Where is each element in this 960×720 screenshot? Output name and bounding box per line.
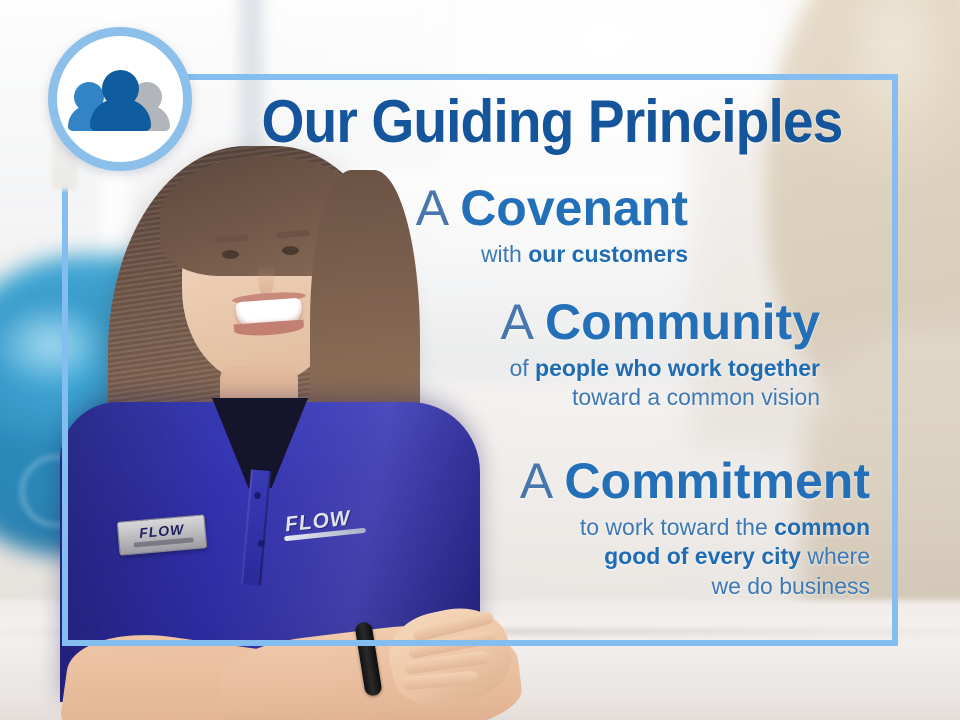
principle-community-title: A Community (300, 296, 820, 348)
shirt-button (258, 540, 265, 547)
principle-commitment-subtitle: to work toward the common good of every … (330, 513, 870, 601)
principle-commitment-sub-bold: common (774, 514, 870, 540)
principle-community-sub-bold: people who work together (535, 355, 820, 381)
principle-commitment-sub-line2-bold: good of every city (604, 543, 801, 569)
principle-covenant-subtitle: with our customers (228, 240, 688, 269)
principle-commitment-sub-line2-suffix: where (801, 543, 870, 569)
shirt-button (254, 492, 261, 499)
principle-commitment: A Commitment to work toward the common g… (330, 455, 870, 601)
principle-community-sub-line3: toward a common vision (572, 384, 820, 410)
principle-covenant-article: A (416, 180, 447, 236)
principle-commitment-sub-line3: we do business (711, 573, 870, 599)
principle-community: A Community of people who work together … (300, 296, 820, 413)
principle-community-article: A (501, 294, 532, 350)
principle-covenant: A Covenant with our customers (228, 182, 688, 269)
principle-covenant-title: A Covenant (228, 182, 688, 234)
principle-community-sub-prefix: of (509, 355, 535, 381)
guiding-principles-graphic: FLOW FLOW (0, 0, 960, 720)
principle-covenant-sub-bold: our customers (528, 241, 688, 267)
principle-commitment-article: A (520, 453, 551, 509)
three-people-icon (72, 68, 168, 130)
people-badge (48, 27, 192, 171)
page-title: Our Guiding Principles (239, 92, 865, 152)
principle-community-word: Community (545, 294, 820, 350)
principle-covenant-word: Covenant (460, 180, 688, 236)
nose (258, 266, 274, 296)
principle-community-subtitle: of people who work together toward a com… (300, 354, 820, 413)
principle-covenant-sub-prefix: with (481, 241, 528, 267)
principle-commitment-word: Commitment (564, 453, 870, 509)
principle-commitment-title: A Commitment (330, 455, 870, 507)
principle-commitment-sub-prefix: to work toward the (580, 514, 774, 540)
